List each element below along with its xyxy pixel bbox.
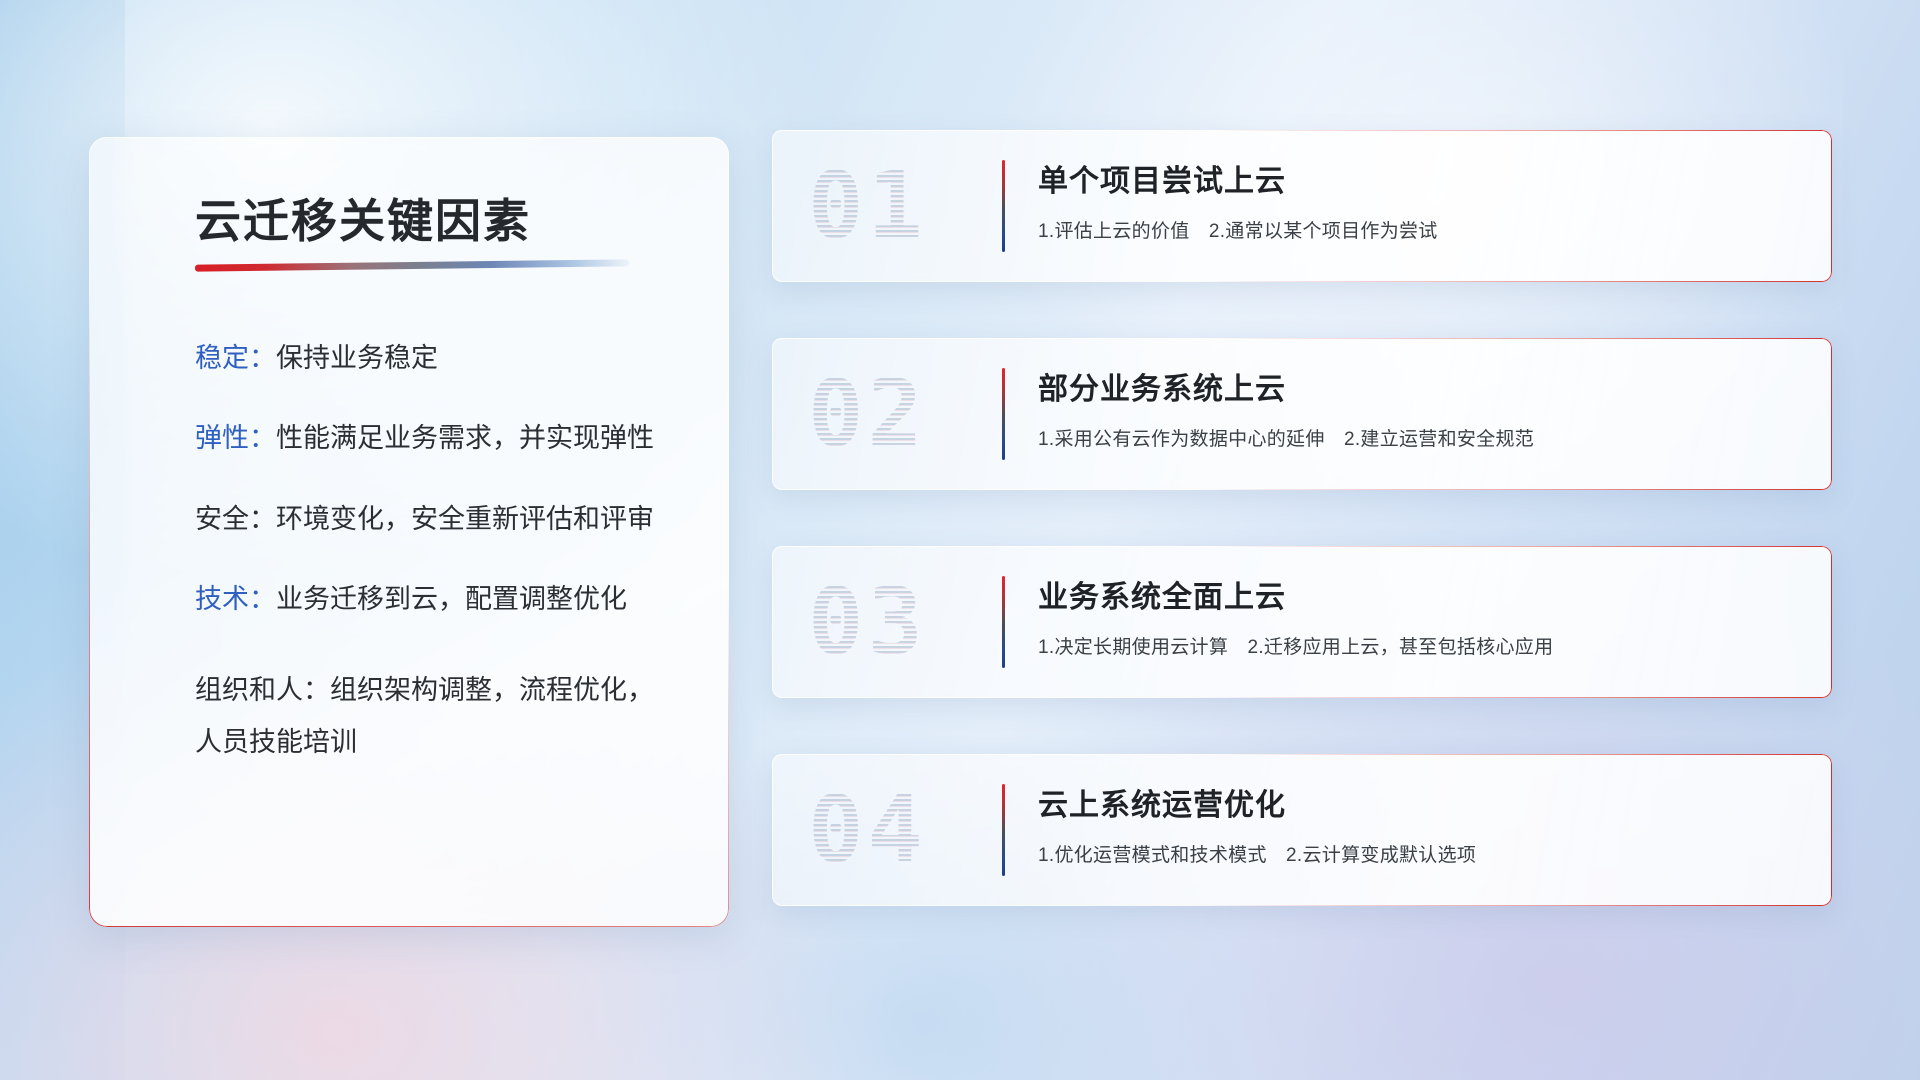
step-body: 部分业务系统上云1.采用公有云作为数据中心的延伸 2.建立运营和安全规范 [1038, 364, 1808, 451]
step-description: 1.采用公有云作为数据中心的延伸 2.建立运营和安全规范 [1038, 424, 1808, 451]
step-title: 单个项目尝试上云 [1038, 156, 1808, 200]
key-factors-card: 云迁移关键因素 稳定：保持业务稳定弹性：性能满足业务需求，并实现弹性安全：环境变… [89, 137, 729, 927]
migration-step-card[interactable]: 0202部分业务系统上云1.采用公有云作为数据中心的延伸 2.建立运营和安全规范 [772, 338, 1832, 490]
page-title: 云迁移关键因素 [195, 185, 531, 251]
key-factor-label: 稳定： [195, 343, 276, 373]
step-title: 部分业务系统上云 [1038, 364, 1808, 408]
key-factor-text: 环境变化，安全重新评估和评审 [276, 504, 654, 534]
key-factor-row: 安全：环境变化，安全重新评估和评审 [195, 503, 665, 535]
key-factor-text: 业务迁移到云，配置调整优化 [276, 584, 627, 614]
step-title: 云上系统运营优化 [1038, 780, 1808, 824]
migration-steps-list: 0101单个项目尝试上云1.评估上云的价值 2.通常以某个项目作为尝试0202部… [772, 130, 1832, 906]
key-factor-label: 组织和人： [195, 675, 330, 705]
slide-stage: 云迁移关键因素 稳定：保持业务稳定弹性：性能满足业务需求，并实现弹性安全：环境变… [0, 0, 1920, 1080]
step-body: 云上系统运营优化1.优化运营模式和技术模式 2.云计算变成默认选项 [1038, 780, 1808, 867]
title-underline-accent [195, 259, 629, 271]
step-description: 1.评估上云的价值 2.通常以某个项目作为尝试 [1038, 216, 1808, 243]
step-divider-accent [1002, 784, 1005, 876]
key-factor-label: 技术： [195, 584, 276, 614]
step-title: 业务系统全面上云 [1038, 572, 1808, 616]
step-number-watermark: 02 [808, 368, 927, 460]
step-body: 单个项目尝试上云1.评估上云的价值 2.通常以某个项目作为尝试 [1038, 156, 1808, 243]
key-factor-row: 技术：业务迁移到云，配置调整优化 [195, 583, 665, 615]
step-divider-accent [1002, 368, 1005, 460]
key-factor-label: 弹性： [195, 423, 276, 453]
migration-step-card[interactable]: 0303业务系统全面上云1.决定长期使用云计算 2.迁移应用上云，甚至包括核心应… [772, 546, 1832, 698]
key-factor-text: 性能满足业务需求，并实现弹性 [276, 423, 654, 453]
migration-step-card[interactable]: 0101单个项目尝试上云1.评估上云的价值 2.通常以某个项目作为尝试 [772, 130, 1832, 282]
step-number-watermark: 03 [808, 576, 927, 668]
step-description: 1.决定长期使用云计算 2.迁移应用上云，甚至包括核心应用 [1038, 632, 1808, 659]
key-factor-row: 组织和人：组织架构调整，流程优化，人员技能培训 [195, 664, 665, 769]
key-factor-label: 安全： [195, 504, 276, 534]
key-factors-list: 稳定：保持业务稳定弹性：性能满足业务需求，并实现弹性安全：环境变化，安全重新评估… [195, 342, 665, 769]
step-body: 业务系统全面上云1.决定长期使用云计算 2.迁移应用上云，甚至包括核心应用 [1038, 572, 1808, 659]
step-number-watermark: 01 [808, 160, 927, 252]
migration-step-card[interactable]: 0404云上系统运营优化1.优化运营模式和技术模式 2.云计算变成默认选项 [772, 754, 1832, 906]
key-factor-row: 稳定：保持业务稳定 [195, 342, 665, 374]
key-factor-row: 弹性：性能满足业务需求，并实现弹性 [195, 422, 665, 454]
step-description: 1.优化运营模式和技术模式 2.云计算变成默认选项 [1038, 840, 1808, 867]
key-factor-text: 保持业务稳定 [276, 343, 438, 373]
step-number-watermark: 04 [808, 784, 927, 876]
step-divider-accent [1002, 160, 1005, 252]
step-divider-accent [1002, 576, 1005, 668]
